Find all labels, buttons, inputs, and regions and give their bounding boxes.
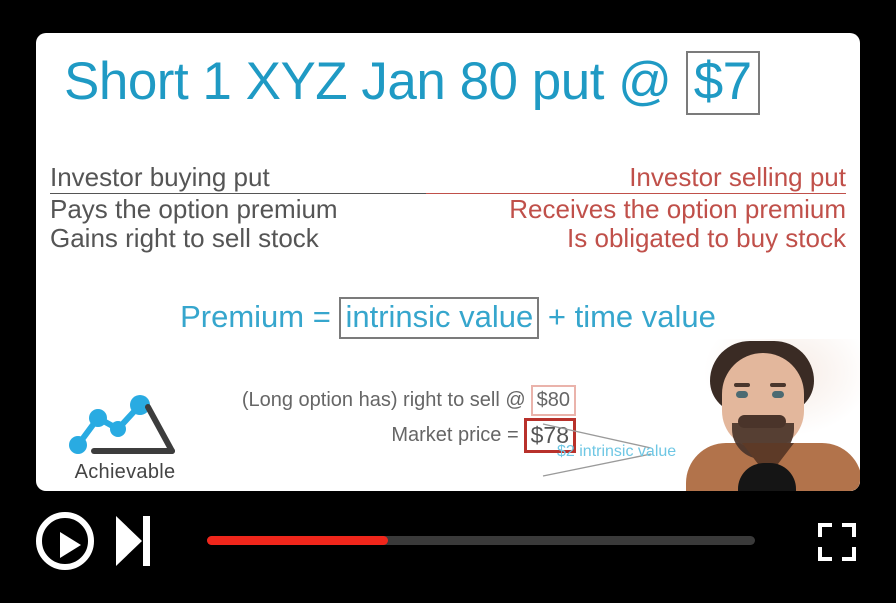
achievable-logo-mark bbox=[60, 385, 190, 461]
slide-title-text: Short 1 XYZ Jan 80 put @ bbox=[64, 52, 686, 111]
strike-price-value: $80 bbox=[531, 385, 576, 416]
right-to-sell-label: (Long option has) right to sell @ bbox=[242, 389, 526, 412]
webcam-eyebrow-left bbox=[734, 383, 750, 387]
progress-bar[interactable] bbox=[207, 536, 755, 545]
slide-title-boxed-price: $7 bbox=[686, 51, 760, 115]
achievable-wordmark: Achievable bbox=[60, 461, 190, 484]
next-button[interactable] bbox=[116, 516, 152, 566]
next-icon bbox=[116, 516, 142, 566]
play-button[interactable] bbox=[36, 512, 94, 570]
webcam-moustache bbox=[738, 415, 786, 428]
webcam-eyebrow-right bbox=[770, 383, 786, 387]
progress-bar-fill bbox=[207, 536, 388, 545]
selling-put-heading: Investor selling put bbox=[426, 163, 846, 194]
premium-formula: Premium = intrinsic value + time value bbox=[36, 297, 860, 339]
webcam-eye-left bbox=[736, 391, 748, 398]
investor-buying-column: Investor buying put Pays the option prem… bbox=[50, 163, 450, 253]
fullscreen-icon-corner-bottom-right bbox=[842, 547, 856, 561]
presenter-webcam-overlay bbox=[680, 339, 860, 491]
buying-put-heading: Investor buying put bbox=[50, 163, 450, 194]
buying-put-line-1: Pays the option premium bbox=[50, 195, 450, 224]
fullscreen-icon-corner-bottom-left bbox=[818, 547, 832, 561]
buying-put-line-2: Gains right to sell stock bbox=[50, 224, 450, 253]
fullscreen-icon-corner-top-right bbox=[842, 523, 856, 537]
webcam-eye-right bbox=[772, 391, 784, 398]
right-to-sell-row: (Long option has) right to sell @ $80 bbox=[156, 383, 576, 418]
formula-suffix: + time value bbox=[539, 299, 716, 334]
intrinsic-value-annotation-group: (Long option has) right to sell @ $80 Ma… bbox=[156, 383, 576, 453]
slide-canvas: Short 1 XYZ Jan 80 put @ $7 Investor buy… bbox=[36, 33, 860, 491]
fullscreen-button[interactable] bbox=[818, 523, 856, 561]
next-icon-bar bbox=[143, 516, 150, 566]
selling-put-line-1: Receives the option premium bbox=[426, 195, 846, 224]
investor-selling-column: Investor selling put Receives the option… bbox=[426, 163, 846, 253]
achievable-logo: Achievable bbox=[60, 385, 190, 490]
market-price-row: Market price = $78 bbox=[156, 418, 576, 453]
formula-boxed-intrinsic-value: intrinsic value bbox=[339, 297, 539, 339]
formula-prefix: Premium = bbox=[180, 299, 339, 334]
slide-title: Short 1 XYZ Jan 80 put @ $7 bbox=[64, 51, 832, 115]
market-price-label: Market price = bbox=[391, 424, 518, 447]
player-controls-bar bbox=[0, 491, 896, 603]
video-player: Short 1 XYZ Jan 80 put @ $7 Investor buy… bbox=[0, 0, 896, 603]
intrinsic-value-callout: $2 intrinsic value bbox=[557, 443, 676, 461]
fullscreen-icon-corner-top-left bbox=[818, 523, 832, 537]
play-icon bbox=[60, 532, 81, 558]
selling-put-line-2: Is obligated to buy stock bbox=[426, 224, 846, 253]
